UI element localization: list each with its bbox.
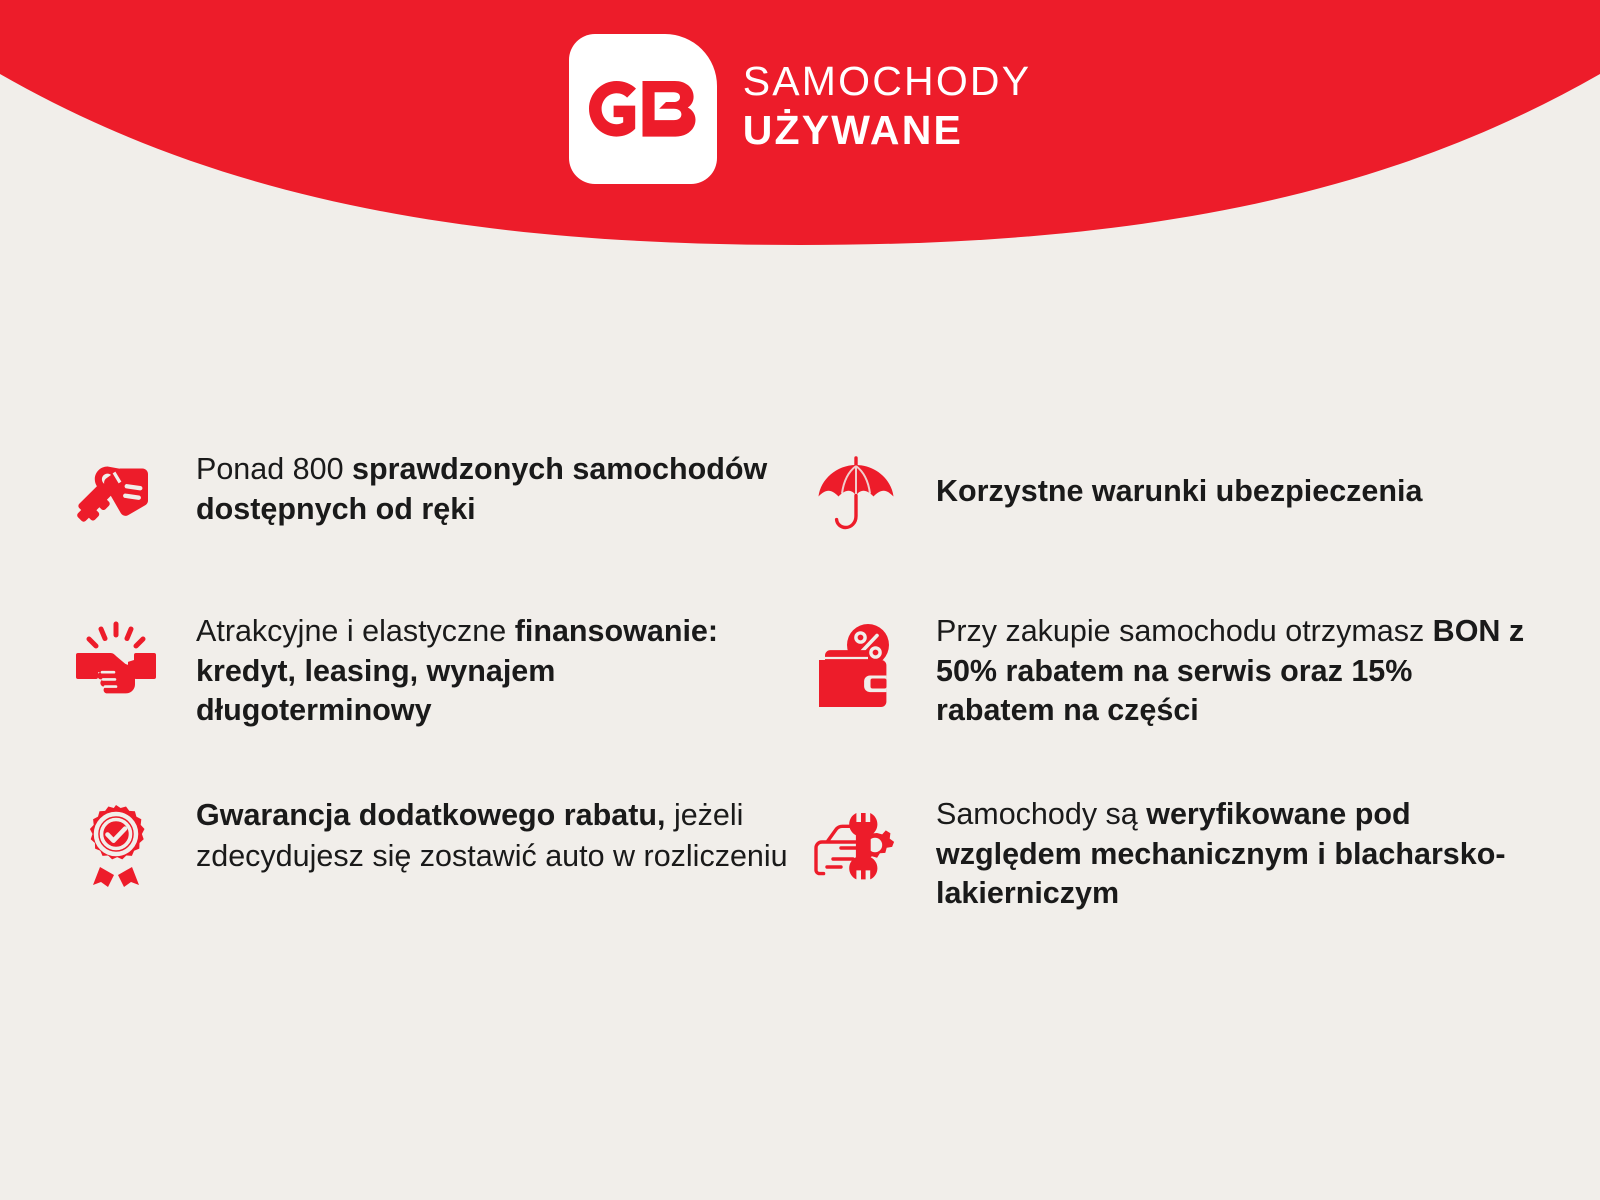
car-service-wrench-icon bbox=[810, 799, 902, 891]
feature-text: Przy zakupie samochodu otrzymasz BON z 5… bbox=[936, 610, 1530, 731]
feature-text-bold: Gwarancja dodatkowego rabatu, bbox=[196, 798, 665, 832]
award-rosette-icon bbox=[70, 803, 162, 895]
feature-text: Atrakcyjne i elastyczne finansowanie: kr… bbox=[196, 610, 790, 731]
feature-text-regular: Przy zakupie samochodu otrzymasz bbox=[936, 614, 1433, 648]
umbrella-icon bbox=[810, 448, 902, 540]
feature-text: Gwarancja dodatkowego rabatu, jeżeli zde… bbox=[196, 793, 790, 878]
features-grid: Ponad 800 sprawdzonych samochodów dostęp… bbox=[0, 430, 1600, 914]
feature-text: Samochody są weryfikowane pod względem m… bbox=[936, 793, 1530, 914]
feature-item-trade-in-guarantee: Gwarancja dodatkowego rabatu, jeżeli zde… bbox=[70, 793, 790, 895]
feature-text-regular: Atrakcyjne i elastyczne bbox=[196, 614, 515, 648]
feature-text-bold: Korzystne warunki ubezpieczenia bbox=[936, 474, 1422, 508]
wallet-percent-icon bbox=[810, 622, 902, 714]
car-key-icon bbox=[70, 448, 162, 540]
gb-logo-mark-icon bbox=[569, 34, 717, 184]
feature-item-service-discount-voucher: Przy zakupie samochodu otrzymasz BON z 5… bbox=[810, 610, 1530, 731]
feature-text: Korzystne warunki ubezpieczenia bbox=[936, 448, 1422, 512]
feature-item-financing: Atrakcyjne i elastyczne finansowanie: kr… bbox=[70, 610, 790, 731]
features-column-right: Korzystne warunki ubezpieczenia bbox=[810, 430, 1530, 914]
feature-text-regular: Samochody są bbox=[936, 797, 1146, 831]
wordmark-line-uzywane: UŻYWANE bbox=[743, 110, 1032, 151]
wordmark-line-samochody: SAMOCHODY bbox=[743, 61, 1032, 102]
handshake-icon bbox=[70, 616, 162, 708]
feature-text: Ponad 800 sprawdzonych samochodów dostęp… bbox=[196, 448, 790, 529]
features-column-left: Ponad 800 sprawdzonych samochodów dostęp… bbox=[70, 430, 790, 914]
feature-item-insurance: Korzystne warunki ubezpieczenia bbox=[810, 448, 1530, 540]
feature-item-cars-available: Ponad 800 sprawdzonych samochodów dostęp… bbox=[70, 448, 790, 540]
feature-item-vehicle-inspection: Samochody są weryfikowane pod względem m… bbox=[810, 793, 1530, 914]
brand-wordmark: SAMOCHODY UŻYWANE bbox=[743, 61, 1032, 157]
gb-monogram-icon bbox=[589, 81, 697, 137]
brand-logo[interactable]: SAMOCHODY UŻYWANE bbox=[569, 34, 1032, 184]
feature-text-regular: Ponad 800 bbox=[196, 452, 352, 486]
